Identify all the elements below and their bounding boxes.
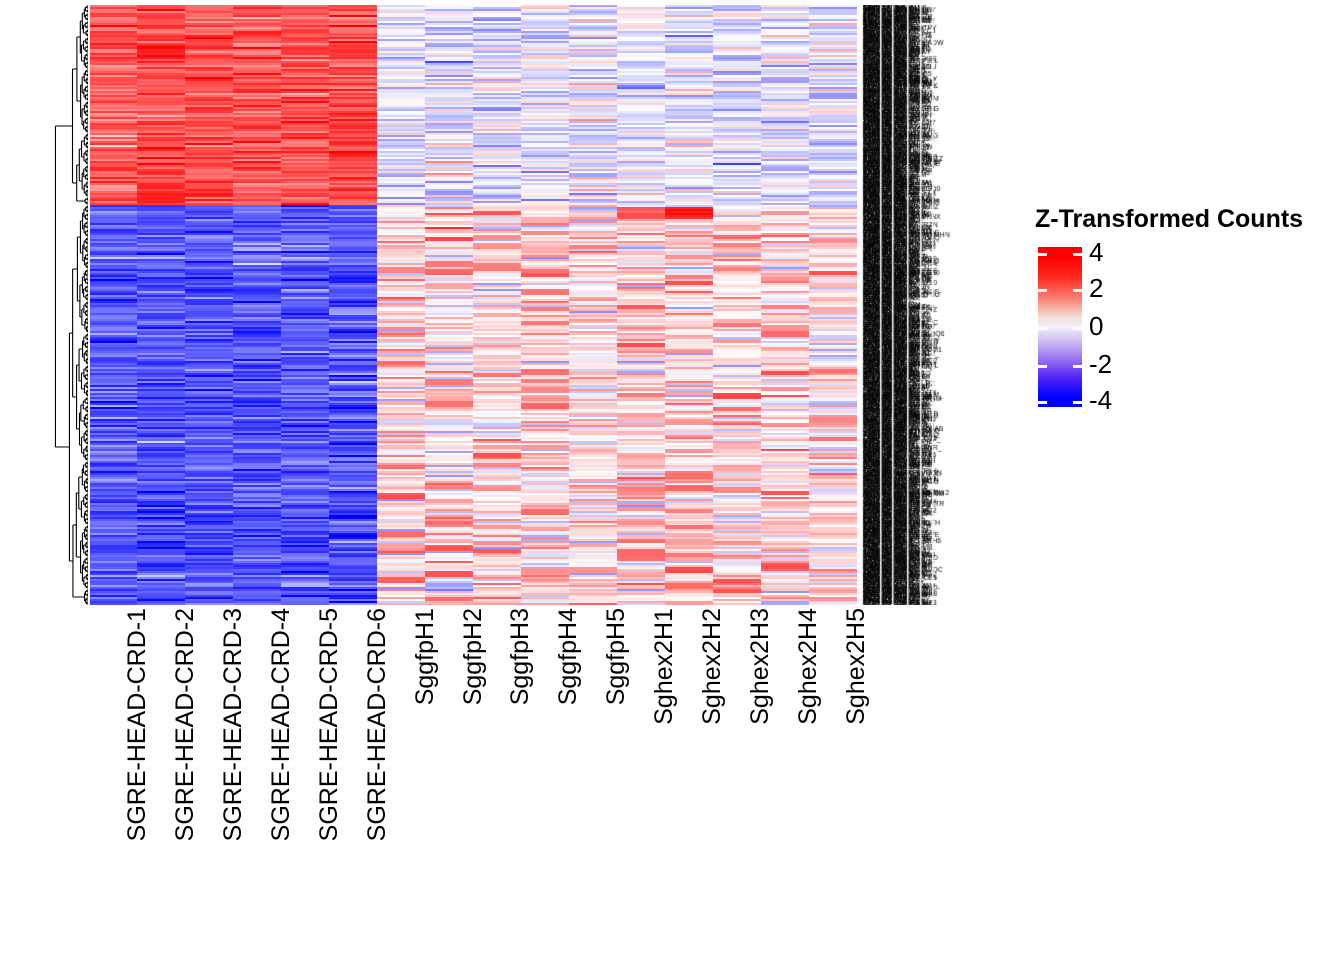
row-dendrogram-svg: [5, 5, 88, 605]
heatmap-figure: SGRE-HEAD-CRD-1SGRE-HEAD-CRD-2SGRE-HEAD-…: [0, 0, 1344, 960]
legend-tick-right-neg2: [1073, 365, 1082, 368]
legend-title: Z-Transformed Counts: [1035, 205, 1303, 234]
legend-tick-right-4: [1073, 253, 1082, 256]
column-label-sggfph2: SggfpH2: [459, 608, 488, 705]
legend-label-neg4: -4: [1089, 387, 1112, 413]
legend-label-0: 0: [1089, 313, 1103, 339]
legend-tick-left-neg4: [1038, 401, 1047, 404]
column-label-sghex2h5: Sghex2H5: [842, 608, 871, 725]
legend-tick-left-neg2: [1038, 365, 1047, 368]
column-label-sggfph4: SggfpH4: [554, 608, 583, 705]
heatmap-canvas: [90, 5, 857, 605]
legend-label-neg2: -2: [1089, 351, 1112, 377]
legend-label-2: 2: [1089, 275, 1103, 301]
legend-tick-left-4: [1038, 253, 1047, 256]
column-label-sghex2h1: Sghex2H1: [650, 608, 679, 725]
column-label-sgre-head-crd-4: SGRE-HEAD-CRD-4: [267, 608, 296, 841]
column-label-sghex2h4: Sghex2H4: [794, 608, 823, 725]
legend-tick-right-2: [1073, 289, 1082, 292]
column-labels: SGRE-HEAD-CRD-1SGRE-HEAD-CRD-2SGRE-HEAD-…: [90, 608, 857, 948]
column-label-sgre-head-crd-6: SGRE-HEAD-CRD-6: [363, 608, 392, 841]
legend-tick-right-neg4: [1073, 401, 1082, 404]
row-label-canvas: [862, 5, 1015, 605]
column-label-sggfph3: SggfpH3: [506, 608, 535, 705]
column-label-sggfph5: SggfpH5: [602, 608, 631, 705]
dendrogram-path: [55, 6, 88, 604]
row-dendrogram: [5, 5, 88, 605]
legend-label-4: 4: [1089, 239, 1103, 265]
color-legend: Z-Transformed Counts 420-2-4: [1035, 205, 1335, 420]
row-label-block: [862, 5, 1015, 605]
legend-tick-right-0: [1073, 327, 1082, 330]
heatmap-grid: [90, 5, 857, 605]
column-label-sggfph1: SggfpH1: [411, 608, 440, 705]
legend-tick-left-2: [1038, 289, 1047, 292]
column-label-sghex2h2: Sghex2H2: [698, 608, 727, 725]
column-label-sgre-head-crd-3: SGRE-HEAD-CRD-3: [219, 608, 248, 841]
column-label-sghex2h3: Sghex2H3: [746, 608, 775, 725]
column-label-sgre-head-crd-2: SGRE-HEAD-CRD-2: [171, 608, 200, 841]
column-label-sgre-head-crd-1: SGRE-HEAD-CRD-1: [123, 608, 152, 841]
legend-tick-left-0: [1038, 327, 1047, 330]
column-label-sgre-head-crd-5: SGRE-HEAD-CRD-5: [315, 608, 344, 841]
